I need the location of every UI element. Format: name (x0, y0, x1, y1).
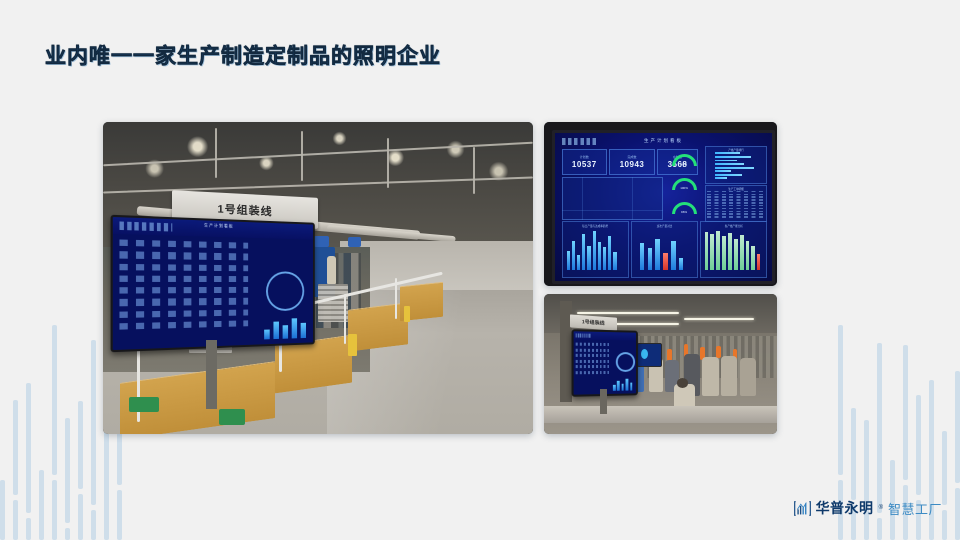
gauge-arc: 设备稼动率 生产线 96% (672, 202, 697, 215)
signal-bars-icon (794, 500, 811, 517)
deco-bar-column (0, 480, 5, 540)
footer-logo: 华普永明 ® 智慧工厂 (794, 498, 942, 518)
work-bench (544, 406, 777, 423)
line-sign-text: 1号组装线 (582, 318, 605, 327)
gauge-label: 直通率 组装线 (672, 178, 697, 179)
line-sign-text: 1号组装线 (217, 200, 272, 219)
worker (721, 356, 737, 397)
deco-bar-column (13, 400, 18, 540)
deco-bar-column (78, 401, 83, 540)
chart-title: 每日产量与达成率趋势 (563, 224, 628, 228)
work-order-table: 生产工单明细 (705, 185, 768, 222)
photo-production-dashboard: 生产计划看板 计划数 10537 完成数 10943 在制数 3568 (544, 122, 777, 286)
worker (740, 358, 756, 396)
deco-bar-column (39, 470, 44, 540)
gauge-arc: 直通率 组装线 100% (672, 178, 697, 191)
kpi-label: 完成数 (627, 155, 636, 159)
deco-bar-column (851, 408, 856, 540)
sub-brand-name: 智慧工厂 (888, 499, 942, 518)
kpi-label: 计划数 (580, 155, 589, 159)
gauge-value: 100% (672, 186, 697, 190)
kpi-card: 完成数 10943 (609, 149, 654, 175)
kanban-screen-line (571, 330, 637, 397)
dashboard-canvas: 生产计划看板 计划数 10537 完成数 10943 在制数 3568 (555, 133, 772, 281)
chart-title: 班次产量对比 (632, 224, 697, 228)
deco-bar-column (955, 371, 960, 540)
page-title-text: 业内唯一一家生产制造定制品的照明企业 (45, 40, 441, 70)
dashboard-matrix-table (562, 177, 664, 220)
kanban-gauge (615, 352, 635, 372)
deco-bar-column (864, 420, 869, 540)
worker (677, 378, 689, 388)
deco-bar-column (916, 395, 921, 540)
worker (327, 256, 336, 284)
dashboard-title: 生产计划看板 (555, 138, 772, 144)
deco-bar-column (104, 422, 109, 540)
kpi-card: 计划数 10537 (562, 149, 607, 175)
page-title: 业内唯一一家生产制造定制品的照明企业 (45, 40, 441, 70)
photo-assembly-line-workers: 1号组装线 (544, 294, 777, 434)
brand-name: 华普永明 (816, 498, 874, 518)
gauge-value: 96% (672, 210, 697, 214)
gauge-column: 计划达成率 总装线 98% 直通率 组装线 100% 设备稼动率 生产线 96% (666, 148, 703, 219)
photo-factory-assembly-aisle: 1号组装线 Assembly line 生产计划看板 (103, 122, 533, 434)
deco-bar-column (26, 383, 31, 540)
kpi-value: 10537 (572, 160, 597, 169)
kanban-screen-main: 生产计划看板 (110, 214, 314, 351)
deco-bar-column (65, 418, 70, 540)
chart-shift-output: 班次产量对比 (631, 221, 698, 278)
chart-title: 各产线产能分析 (701, 224, 766, 228)
kpi-value: 10943 (620, 160, 645, 169)
brand-registered-mark: ® (879, 505, 883, 511)
worker (702, 357, 718, 396)
chart-capacity-analysis: 各产线产能分析 (700, 221, 767, 278)
deco-bar-column (942, 431, 947, 540)
deco-bar-column (91, 340, 96, 540)
gauge-value: 98% (672, 162, 697, 166)
station-tablet (637, 343, 662, 367)
gauge-label: 计划达成率 总装线 (672, 154, 697, 155)
deco-bar-column (52, 325, 57, 540)
gauge-label: 设备稼动率 生产线 (672, 202, 697, 203)
chart-daily-output: 每日产量与达成率趋势 (562, 221, 629, 278)
chart-line-output-ranking: 产线产量排行 (705, 146, 768, 183)
kanban-gauge (265, 271, 304, 311)
gauge-arc: 计划达成率 总装线 98% (672, 154, 697, 167)
